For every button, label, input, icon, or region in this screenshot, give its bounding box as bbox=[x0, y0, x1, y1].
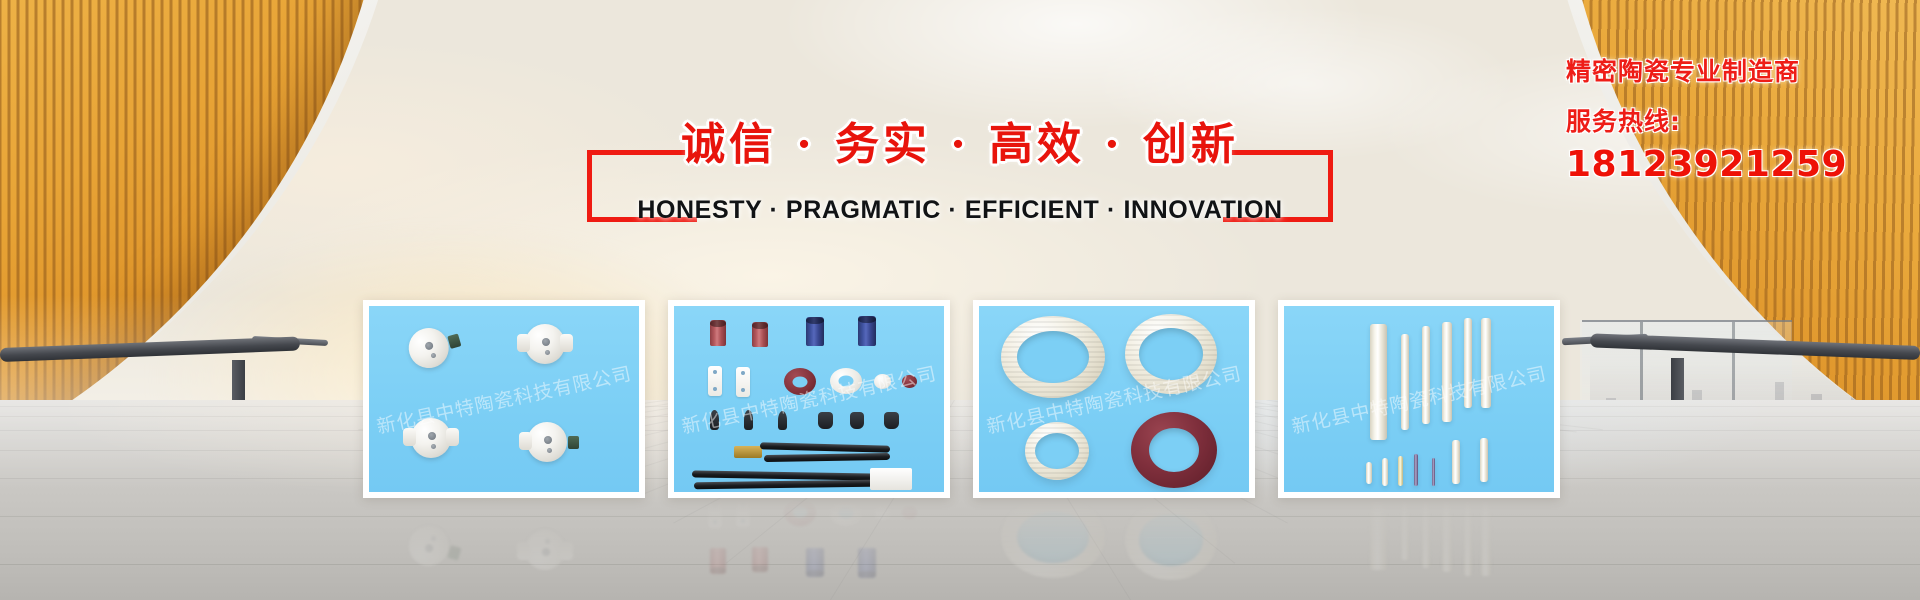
product-item bbox=[1001, 316, 1105, 398]
product-item bbox=[405, 416, 457, 462]
product-item bbox=[902, 375, 917, 388]
product-item bbox=[1480, 438, 1488, 482]
product-item bbox=[778, 411, 787, 430]
product-item bbox=[752, 322, 768, 347]
product-item bbox=[1481, 318, 1491, 408]
product-item bbox=[734, 446, 762, 458]
product-item bbox=[1398, 456, 1403, 486]
product-item bbox=[870, 468, 912, 490]
product-item bbox=[744, 410, 753, 430]
product-panel-ceramic-seal-rings[interactable]: 新化县中特陶瓷科技有限公司 bbox=[973, 300, 1255, 498]
product-item bbox=[850, 412, 864, 429]
product-item bbox=[806, 317, 824, 346]
product-item bbox=[818, 412, 833, 429]
product-item bbox=[1452, 440, 1460, 484]
product-item bbox=[1442, 322, 1452, 422]
product-item bbox=[736, 367, 750, 397]
product-item bbox=[708, 366, 722, 396]
product-item bbox=[858, 316, 876, 346]
product-item bbox=[694, 480, 874, 490]
product-item bbox=[710, 410, 719, 430]
product-item bbox=[1414, 454, 1418, 486]
product-item bbox=[760, 442, 890, 452]
product-item bbox=[830, 368, 862, 394]
product-panel-ceramic-tubes-connectors[interactable]: 新化县中特陶瓷科技有限公司 bbox=[668, 300, 950, 498]
product-panel-ceramic-lamp-holders[interactable]: 新化县中特陶瓷科技有限公司 bbox=[363, 300, 645, 498]
product-item bbox=[521, 420, 573, 466]
product-item bbox=[1131, 412, 1217, 488]
product-item bbox=[1370, 324, 1387, 440]
product-item bbox=[1422, 326, 1430, 424]
product-item bbox=[1432, 458, 1435, 486]
product-item bbox=[710, 320, 726, 346]
product-item bbox=[1366, 462, 1372, 484]
product-item bbox=[884, 412, 899, 429]
product-panel-ceramic-rods[interactable]: 新化县中特陶瓷科技有限公司 bbox=[1278, 300, 1560, 498]
product-item bbox=[764, 453, 890, 462]
product-item bbox=[1401, 334, 1409, 430]
product-item bbox=[692, 470, 876, 480]
product-item bbox=[519, 322, 571, 368]
product-panel-row: 新化县中特陶瓷科技有限公司 bbox=[0, 0, 1920, 600]
product-item bbox=[1025, 422, 1089, 480]
panel-watermark: 新化县中特陶瓷科技有限公司 bbox=[1289, 359, 1549, 439]
product-item bbox=[1382, 458, 1388, 486]
hero-banner: 诚信 · 务实 · 高效 · 创新 HONESTY · PRAGMATIC · … bbox=[0, 0, 1920, 600]
product-item bbox=[874, 374, 891, 389]
product-item bbox=[784, 368, 816, 395]
product-item bbox=[1464, 318, 1472, 408]
product-item bbox=[398, 320, 461, 379]
product-item bbox=[1125, 314, 1217, 394]
